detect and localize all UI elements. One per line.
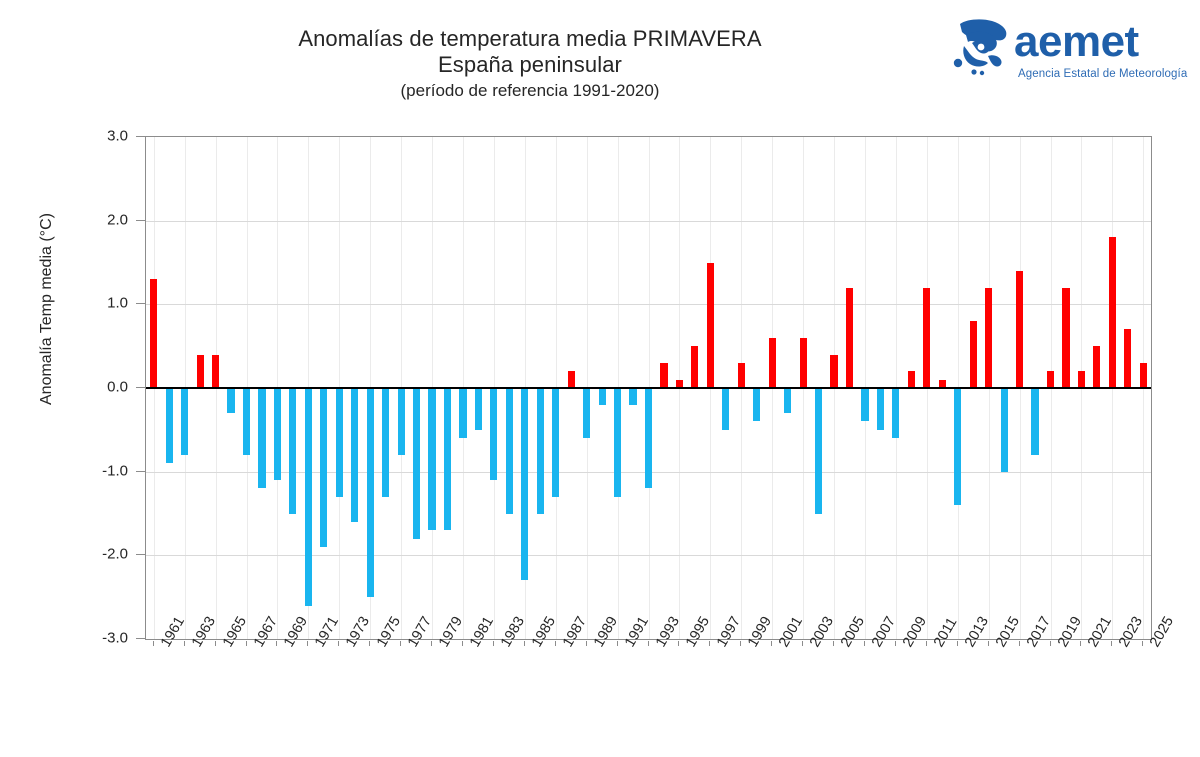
chart-title-line-2: España peninsular — [150, 52, 910, 78]
y-axis-tick-label: 1.0 — [107, 295, 128, 312]
y-axis-title: Anomalía Temp media (°C) — [38, 159, 56, 459]
x-axis-tick-labels: 1961196319651967196919711973197519771979… — [145, 642, 1152, 732]
y-axis-tick-labels: 3.02.01.00.0-1.0-2.0-3.0 — [60, 136, 140, 640]
aemet-logo: aemet Agencia Estatal de Meteorología — [952, 18, 1178, 90]
y-axis-tick — [136, 303, 145, 304]
y-axis-tick — [136, 554, 145, 555]
y-axis-tick-label: 2.0 — [107, 211, 128, 228]
y-axis-tick-label: 3.0 — [107, 128, 128, 145]
aemet-tagline: Agencia Estatal de Meteorología — [1018, 68, 1187, 80]
zero-baseline — [146, 137, 1151, 639]
y-axis-tick — [136, 638, 145, 639]
zero-line — [146, 387, 1151, 389]
chart-title-block: Anomalías de temperatura media PRIMAVERA… — [150, 26, 910, 101]
y-axis-tick — [136, 136, 145, 137]
aemet-logo-mark-icon — [952, 18, 1014, 76]
y-axis-tick — [136, 387, 145, 388]
plot-area — [145, 136, 1152, 640]
chart-title-line-1: Anomalías de temperatura media PRIMAVERA — [150, 26, 910, 52]
chart-figure: Anomalías de temperatura media PRIMAVERA… — [0, 0, 1200, 757]
aemet-wordmark: aemet — [1014, 20, 1139, 64]
y-axis-tick-label: -1.0 — [102, 462, 128, 479]
y-axis-tick — [136, 220, 145, 221]
y-axis-ticks — [136, 136, 145, 640]
y-axis-tick-label: 0.0 — [107, 379, 128, 396]
y-axis-tick — [136, 471, 145, 472]
y-axis-tick-label: -3.0 — [102, 630, 128, 647]
y-axis-tick-label: -2.0 — [102, 546, 128, 563]
chart-subtitle: (período de referencia 1991-2020) — [150, 81, 910, 101]
